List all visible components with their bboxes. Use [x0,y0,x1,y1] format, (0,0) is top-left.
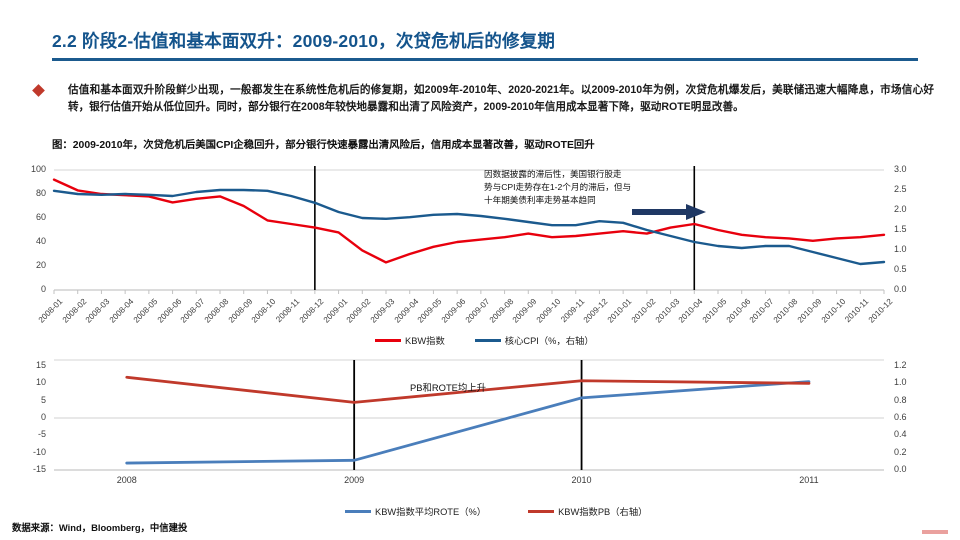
diamond-bullet-icon [32,84,45,97]
chart2-xtick: 2011 [779,475,839,485]
chart1-ytick-left: 80 [12,188,46,198]
chart2-ytick-left: 10 [12,377,46,387]
chart-rote-pb: -15-10-5051015 0.00.20.40.60.81.01.2 200… [0,348,960,523]
chart1-ytick-left: 0 [12,284,46,294]
chart1-ytick-right: 2.5 [894,184,928,194]
legend-item: 核心CPI（%，右轴） [475,333,594,347]
chart-kbw-cpi: 020406080100 0.00.51.01.52.02.53.0 2008-… [0,160,960,350]
page-title: 2.2 阶段2-估值和基本面双升：2009-2010，次贷危机后的修复期 [52,28,555,53]
chart1-ytick-right: 0.5 [894,264,928,274]
chart1-ytick-left: 60 [12,212,46,222]
legend-label: 核心CPI（%，右轴） [505,333,594,347]
chart2-ytick-left: 15 [12,360,46,370]
chart1-ytick-right: 2.0 [894,204,928,214]
bullet-block: 估值和基本面双升阶段鲜少出现，一般都发生在系统性危机后的修复期，如2009年-2… [34,82,934,116]
chart1-annotation-note: 因数据披露的滞后性，美国银行股走 势与CPI走势存在1-2个月的滞后，但与 十年… [484,168,674,207]
chart1-ytick-left: 100 [12,164,46,174]
chart2-ytick-left: 0 [12,412,46,422]
legend-swatch [345,510,371,513]
legend-label: KBW指数平均ROTE（%） [375,504,486,518]
chart2-ytick-left: -10 [12,447,46,457]
legend-swatch [475,339,501,342]
chart2-ytick-left: -5 [12,429,46,439]
chart-rote-pb-canvas [0,348,960,523]
chart2-ytick-right: 1.2 [894,360,928,370]
title-divider [52,58,918,61]
chart2-ytick-left: -15 [12,464,46,474]
chart1-ytick-right: 3.0 [894,164,928,174]
corner-accent-mark [922,530,948,534]
chart1-ytick-left: 40 [12,236,46,246]
chart2-legend: KBW指数平均ROTE（%）KBW指数PB（右轴） [345,504,681,518]
chart2-ytick-right: 0.0 [894,464,928,474]
chart1-ytick-right: 1.0 [894,244,928,254]
chart-caption: 图：2009-2010年，次贷危机后美国CPI企稳回升，部分银行快速暴露出清风险… [52,136,595,151]
chart2-xtick: 2010 [552,475,612,485]
legend-item: KBW指数PB（右轴） [528,504,647,518]
chart2-ytick-right: 0.8 [894,395,928,405]
chart2-ytick-right: 1.0 [894,377,928,387]
bullet-paragraph: 估值和基本面双升阶段鲜少出现，一般都发生在系统性危机后的修复期，如2009年-2… [68,82,934,116]
legend-label: KBW指数PB（右轴） [558,504,647,518]
legend-item: KBW指数 [375,333,445,347]
legend-label: KBW指数 [405,333,445,347]
chart2-xtick: 2008 [97,475,157,485]
source-note: 数据来源：Wind，Bloomberg，中信建投 [12,520,187,534]
chart2-ytick-right: 0.4 [894,429,928,439]
chart1-ytick-right: 1.5 [894,224,928,234]
chart2-ytick-right: 0.6 [894,412,928,422]
chart2-ytick-left: 5 [12,395,46,405]
chart1-legend: KBW指数核心CPI（%，右轴） [375,333,616,347]
chart2-ytick-right: 0.2 [894,447,928,457]
chart1-ytick-left: 20 [12,260,46,270]
chart1-ytick-right: 0.0 [894,284,928,294]
legend-swatch [528,510,554,513]
legend-item: KBW指数平均ROTE（%） [345,504,486,518]
chart2-annotation-note: PB和ROTE均上升 [410,380,486,394]
legend-swatch [375,339,401,342]
chart2-xtick: 2009 [324,475,384,485]
